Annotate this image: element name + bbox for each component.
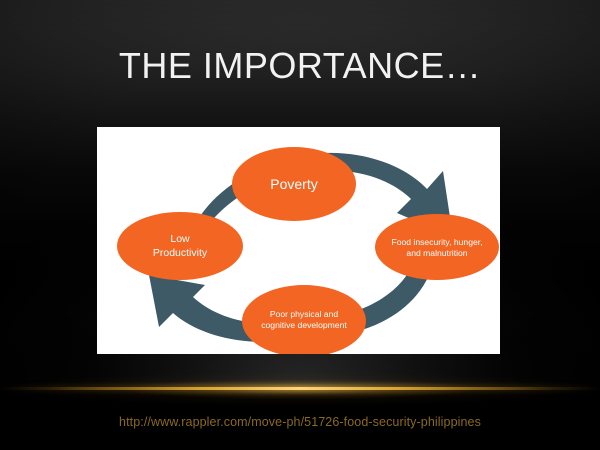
node-low-productivity-shape <box>117 212 243 280</box>
cycle-node-poor-development: Poor physical and cognitive development <box>242 285 366 354</box>
cycle-node-food-insecurity: Food insecurity, hunger, and malnutritio… <box>375 214 499 280</box>
cycle-node-low-productivity: Low Productivity <box>117 212 243 280</box>
source-url-caption: http://www.rappler.com/move-ph/51726-foo… <box>0 414 600 430</box>
node-low-productivity-label-line1: Low <box>170 233 190 245</box>
node-food-insecurity-label-line1: Food insecurity, hunger, <box>391 237 482 247</box>
cycle-diagram: Poverty Food insecurity, hunger, and mal… <box>97 127 500 354</box>
node-food-insecurity-shape <box>375 214 499 280</box>
node-poor-development-label-line2: cognitive development <box>261 320 347 330</box>
slide-title: THE IMPORTANCE… <box>60 44 540 88</box>
diagram-picture-panel: Poverty Food insecurity, hunger, and mal… <box>97 127 500 354</box>
node-poverty-label: Poverty <box>270 176 317 192</box>
slide: THE IMPORTANCE… Poverty Food insecur <box>0 0 600 450</box>
node-low-productivity-label-line2: Productivity <box>153 247 208 259</box>
node-poor-development-label-line1: Poor physical and <box>270 309 339 319</box>
cycle-node-poverty: Poverty <box>232 147 356 221</box>
node-food-insecurity-label-line2: and malnutrition <box>406 248 467 258</box>
